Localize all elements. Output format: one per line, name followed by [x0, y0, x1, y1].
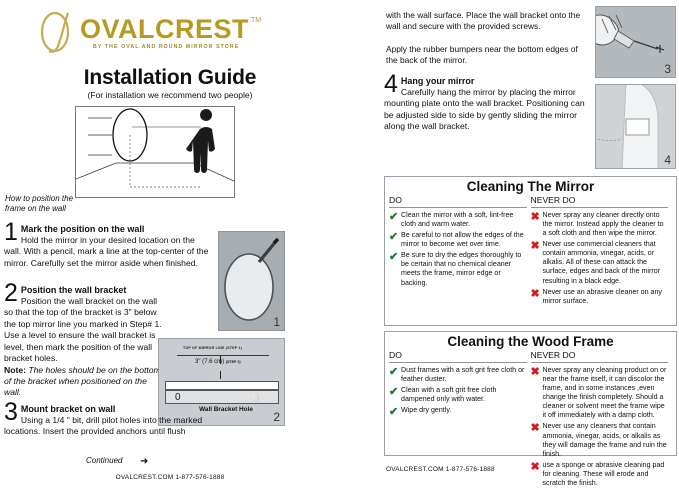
- brand-name: OVALCREST: [80, 14, 249, 45]
- care-item-text: Never spray any cleaning product on or n…: [543, 366, 669, 420]
- step-2-note-label: Note:: [4, 365, 26, 375]
- step-1-number: 1: [4, 222, 18, 242]
- step-3-number: 3: [4, 402, 18, 422]
- care-mirror-do-column: DO ✔ Clean the mirror with a soft, lint-…: [389, 195, 531, 308]
- cross-icon: ✖: [531, 240, 543, 285]
- trademark-symbol: TM: [251, 17, 261, 24]
- care-item-text: use a sponge or abrasive cleaning pad fo…: [543, 461, 669, 488]
- care-section-mirror: Cleaning The Mirror DO ✔ Clean the mirro…: [384, 176, 677, 326]
- bracket-hole-right-icon: ⚪: [251, 394, 260, 402]
- page-subtitle: (For installation we recommend two peopl…: [0, 90, 340, 100]
- care-mirror-never-heading: NEVER DO: [531, 195, 669, 208]
- care-item-text: Never use an abrasive cleaner on any mir…: [543, 288, 669, 306]
- cross-icon: ✖: [531, 366, 543, 420]
- panel-number-4: 4: [664, 153, 671, 167]
- care-frame-never-heading: NEVER DO: [531, 350, 669, 363]
- care-frame-title: Cleaning the Wood Frame: [385, 332, 676, 350]
- bracket-dimension-note: (STEP 2): [226, 360, 241, 364]
- top-mirror-line-label: TOP OF MIRROR LINE (STEP 1): [183, 346, 242, 350]
- bracket-hole-left-icon: 0: [175, 392, 181, 403]
- bracket-bar-upper: [165, 381, 279, 390]
- care-mirror-title: Cleaning The Mirror: [385, 177, 676, 195]
- care-mirror-columns: DO ✔ Clean the mirror with a soft, lint-…: [385, 195, 676, 308]
- step-3-body: Using a 1/4 " bit, drill pilot holes int…: [4, 415, 214, 438]
- care-item: ✖ Never use commercial cleaners that con…: [531, 240, 669, 285]
- care-item-text: Never use commercial cleaners that conta…: [543, 240, 669, 285]
- dimension-arrow-down: [220, 371, 221, 379]
- care-section-wood-frame: Cleaning the Wood Frame DO ✔ Dust frames…: [384, 331, 677, 456]
- bracket-bar-lower: [165, 390, 279, 404]
- step-1: 1 Mark the position on the wall Hold the…: [4, 224, 210, 269]
- top-mirror-line: [177, 355, 269, 356]
- step-4: 4 Hang your mirror Carefully hang the mi…: [384, 76, 589, 133]
- step-2-heading: Position the wall bracket: [6, 285, 164, 295]
- care-item: ✔ Clean the mirror with a soft, lint-fre…: [389, 211, 527, 229]
- care-item: ✔ Wipe dry gently.: [389, 406, 527, 418]
- step-2-body: Position the wall bracket on the wall so…: [4, 296, 164, 365]
- step-3: 3 Mount bracket on wall Using a 1/4 " bi…: [4, 404, 214, 438]
- right-column: with the wall surface. Place the wall br…: [380, 0, 679, 489]
- mirror-mounting-plate-illustration: [596, 85, 675, 168]
- care-item: ✖ Never spray any cleaner directly onto …: [531, 211, 669, 238]
- footer-contact-left: OVALCREST.COM 1-877-576-1888: [0, 474, 340, 481]
- step-4-number: 4: [384, 74, 398, 94]
- panel-number-3: 3: [664, 62, 671, 76]
- continued-arrow-icon: ➜: [140, 456, 148, 467]
- panel-number-1: 1: [273, 315, 280, 329]
- check-icon: ✔: [389, 386, 401, 404]
- care-item: ✔ Be careful to not allow the edges of t…: [389, 231, 527, 249]
- cross-icon: ✖: [531, 422, 543, 458]
- care-item-text: Clean the mirror with a soft, lint-free …: [401, 211, 527, 229]
- screw-install-photo-panel: 3: [595, 6, 676, 78]
- care-item: ✖ Never use an abrasive cleaner on any m…: [531, 288, 669, 306]
- care-item: ✖ Never spray any cleaning product on or…: [531, 366, 669, 420]
- step-1-heading: Mark the position on the wall: [6, 224, 210, 234]
- care-item-text: Be sure to dry the edges thoroughly to b…: [401, 251, 527, 287]
- page-title: Installation Guide: [0, 66, 340, 90]
- check-icon: ✔: [389, 406, 401, 418]
- oval-monogram-icon: [38, 10, 84, 54]
- step-1-body: Hold the mirror in your desired location…: [4, 235, 210, 269]
- room-position-diagram: [75, 106, 235, 198]
- care-item-text: Be careful to not allow the edges of the…: [401, 231, 527, 249]
- care-item: ✖ Never use any cleaners that contain am…: [531, 422, 669, 458]
- hanging-mirror-photo-panel: 4: [595, 84, 676, 169]
- check-icon: ✔: [389, 211, 401, 229]
- care-item-text: Wipe dry gently.: [401, 406, 527, 418]
- continuation-paragraph-1: with the wall surface. Place the wall br…: [386, 10, 586, 32]
- step-3-heading: Mount bracket on wall: [6, 404, 214, 414]
- step-4-heading: Hang your mirror: [386, 76, 589, 86]
- check-icon: ✔: [389, 251, 401, 287]
- step-2-number: 2: [4, 283, 18, 303]
- hand-with-screwdriver-illustration: [596, 7, 675, 77]
- care-item: ✖ use a sponge or abrasive cleaning pad …: [531, 461, 669, 488]
- care-item-text: Never use any cleaners that contain ammo…: [543, 422, 669, 458]
- brand-tagline: BY THE OVAL AND ROUND MIRROR STORE: [93, 44, 239, 50]
- check-icon: ✔: [389, 366, 401, 384]
- care-item: ✔ Clean with a soft grit free cloth damp…: [389, 386, 527, 404]
- room-diagram-caption: How to position the frame on the wall: [5, 194, 77, 214]
- continued-label: Continued: [86, 456, 122, 465]
- care-frame-never-column: NEVER DO ✖ Never spray any cleaning prod…: [531, 350, 673, 490]
- care-frame-do-heading: DO: [389, 350, 527, 363]
- step-2: 2 Position the wall bracket Position the…: [4, 285, 164, 399]
- room-diagram-svg: [76, 107, 234, 197]
- panel-number-2: 2: [273, 410, 280, 424]
- cross-icon: ✖: [531, 211, 543, 238]
- care-item: ✔ Dust frames with a soft grit free clot…: [389, 366, 527, 384]
- cross-icon: ✖: [531, 288, 543, 306]
- cross-icon: ✖: [531, 461, 543, 488]
- check-icon: ✔: [389, 231, 401, 249]
- care-item-text: Never spray any cleaner directly onto th…: [543, 211, 669, 238]
- bracket-dimension-value: 3" (7.6 cm): [195, 359, 224, 365]
- care-item: ✔ Be sure to dry the edges thoroughly to…: [389, 251, 527, 287]
- care-item-text: Clean with a soft grit free cloth dampen…: [401, 386, 527, 404]
- brand-logo: OVALCREST TM BY THE OVAL AND ROUND MIRRO…: [38, 8, 268, 56]
- mirror-photo-panel: 1: [218, 231, 285, 331]
- continuation-paragraph-2: Apply the rubber bumpers near the bottom…: [386, 44, 586, 66]
- left-column: OVALCREST TM BY THE OVAL AND ROUND MIRRO…: [0, 0, 368, 489]
- step-4-body: Carefully hang the mirror by placing the…: [384, 87, 589, 133]
- care-mirror-never-column: NEVER DO ✖ Never spray any cleaner direc…: [531, 195, 673, 308]
- care-item-text: Dust frames with a soft grit free cloth …: [401, 366, 527, 384]
- care-mirror-do-heading: DO: [389, 195, 527, 208]
- step-2-note: Note: The holes should be on the bottom …: [4, 365, 164, 399]
- installation-guide-page: OVALCREST TM BY THE OVAL AND ROUND MIRRO…: [0, 0, 679, 489]
- footer-contact-right: OVALCREST.COM 1-877-576-1888: [386, 466, 495, 473]
- bracket-dimension: 3" (7.6 cm) (STEP 2): [195, 359, 241, 365]
- step-2-note-text: The holes should be on the bottom of the…: [4, 365, 161, 398]
